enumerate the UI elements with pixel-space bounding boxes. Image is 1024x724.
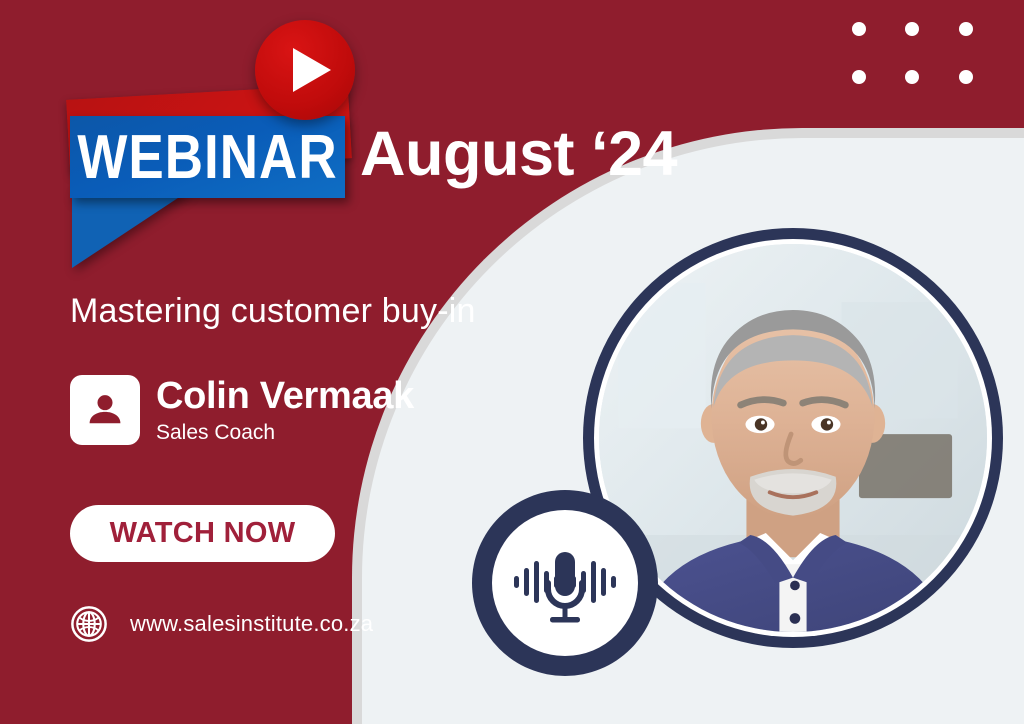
speaker-block: Colin Vermaak Sales Coach bbox=[70, 375, 414, 445]
speaker-text: Colin Vermaak Sales Coach bbox=[156, 375, 414, 445]
dot-grid-decoration bbox=[852, 22, 1012, 118]
ribbon-blue-banner: WEBINAR bbox=[70, 116, 345, 198]
webinar-poster: WEBINAR August ‘24 Mastering customer bu… bbox=[0, 0, 1024, 724]
play-icon bbox=[255, 20, 355, 120]
speaker-role: Sales Coach bbox=[156, 421, 414, 445]
decor-dot bbox=[852, 70, 866, 84]
watch-now-button[interactable]: WATCH NOW bbox=[70, 505, 335, 562]
webinar-label: WEBINAR bbox=[77, 121, 337, 193]
website-block[interactable]: www.salesinstitute.co.za bbox=[70, 605, 373, 643]
decor-dot bbox=[905, 70, 919, 84]
decor-dot bbox=[852, 22, 866, 36]
website-url: www.salesinstitute.co.za bbox=[130, 611, 373, 637]
speaker-name: Colin Vermaak bbox=[156, 377, 414, 417]
avatar bbox=[70, 375, 140, 445]
watch-now-label: WATCH NOW bbox=[110, 517, 296, 550]
decor-dot bbox=[959, 22, 973, 36]
play-triangle bbox=[293, 48, 331, 92]
webinar-subtitle: Mastering customer buy-in bbox=[70, 292, 476, 331]
page-title: August ‘24 bbox=[360, 118, 677, 190]
decor-dot bbox=[905, 22, 919, 36]
ribbon-tail bbox=[72, 190, 190, 268]
decor-dot bbox=[959, 70, 973, 84]
microphone-badge bbox=[472, 490, 658, 676]
globe-icon bbox=[70, 605, 108, 643]
microphone-badge-inner bbox=[492, 510, 638, 656]
person-icon bbox=[83, 388, 127, 432]
microphone-icon bbox=[510, 535, 620, 631]
